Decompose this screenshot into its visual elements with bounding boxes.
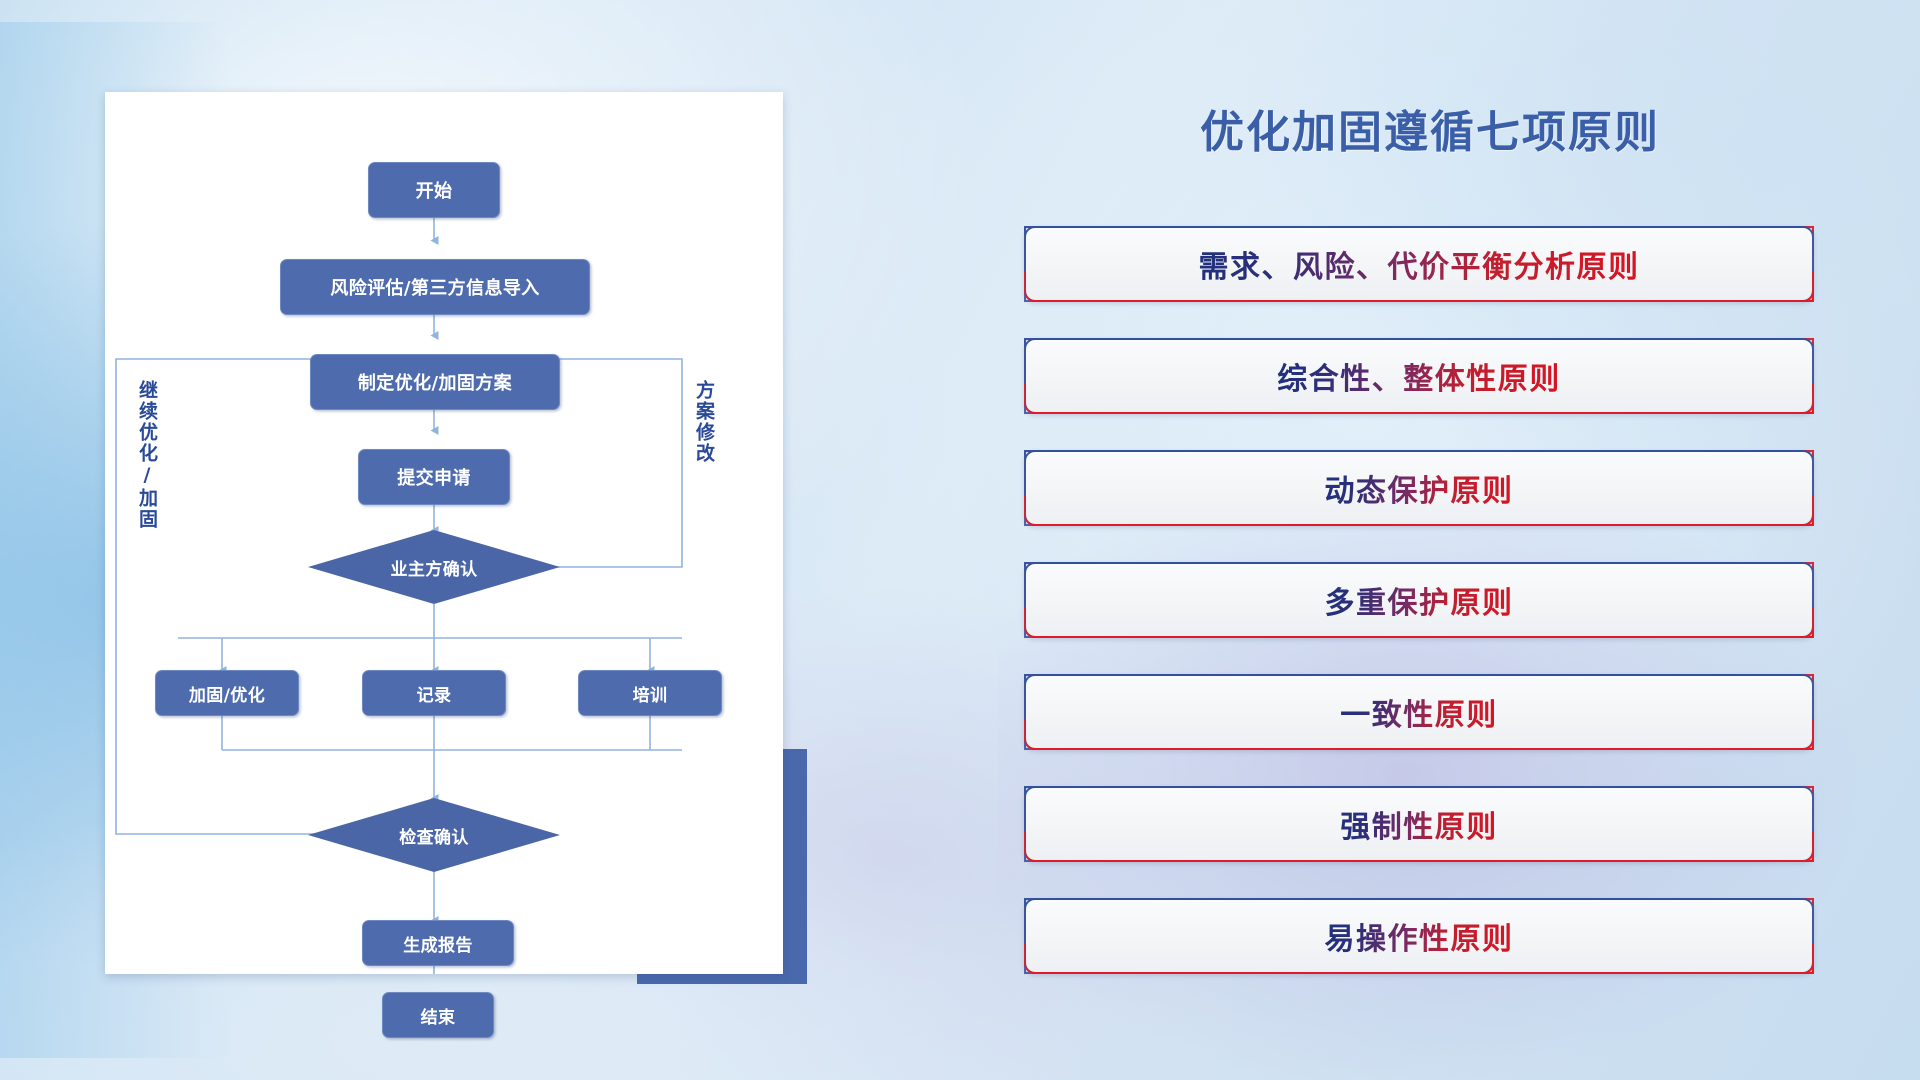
principle-item-4-label: 多重保护原则 <box>1325 578 1514 622</box>
principles-panel: 优化加固遵循七项原则 需求、风险、代价平衡分析原则 综合性、整体性原则 动态保护… <box>1020 96 1840 1006</box>
principle-item-5-label: 一致性原则 <box>1340 690 1498 734</box>
flowchart-card: 开始 风险评估/第三方信息导入 制定优化/加固方案 提交申请 业主方确认 加固/… <box>105 92 783 974</box>
principle-item-1[interactable]: 需求、风险、代价平衡分析原则 <box>1024 226 1814 302</box>
flow-node-end[interactable]: 结束 <box>382 992 494 1038</box>
flow-node-training[interactable]: 培训 <box>578 670 722 716</box>
flow-node-check-confirm-label: 检查确认 <box>399 823 469 848</box>
flow-node-report-label: 生成报告 <box>403 931 473 956</box>
principle-item-6-label: 强制性原则 <box>1340 802 1498 846</box>
flow-node-record[interactable]: 记录 <box>362 670 506 716</box>
flow-node-risk-assessment-label: 风险评估/第三方信息导入 <box>330 274 539 300</box>
flow-node-risk-assessment[interactable]: 风险评估/第三方信息导入 <box>280 259 590 315</box>
flowchart: 开始 风险评估/第三方信息导入 制定优化/加固方案 提交申请 业主方确认 加固/… <box>105 92 783 974</box>
flow-node-reinforce-label: 加固/优化 <box>189 681 265 706</box>
principle-item-1-label: 需求、风险、代价平衡分析原则 <box>1199 242 1640 286</box>
flow-edge-label-plan-revision: 方案修改 <box>693 380 713 464</box>
flow-node-submit-label: 提交申请 <box>397 464 471 490</box>
principle-item-7-label: 易操作性原则 <box>1325 914 1514 958</box>
principle-item-5[interactable]: 一致性原则 <box>1024 674 1814 750</box>
flow-edge-label-continue-optimize: 继续优化/加固 <box>136 380 156 530</box>
flow-node-check-confirm[interactable]: 检查确认 <box>308 798 560 872</box>
principle-item-6[interactable]: 强制性原则 <box>1024 786 1814 862</box>
flow-node-start-label: 开始 <box>416 177 453 203</box>
flow-node-submit[interactable]: 提交申请 <box>358 449 510 505</box>
flow-node-plan[interactable]: 制定优化/加固方案 <box>310 354 560 410</box>
flow-node-record-label: 记录 <box>417 681 452 706</box>
principle-item-4[interactable]: 多重保护原则 <box>1024 562 1814 638</box>
flow-node-report[interactable]: 生成报告 <box>362 920 514 966</box>
flow-node-owner-confirm-label: 业主方确认 <box>391 555 478 580</box>
principle-item-7[interactable]: 易操作性原则 <box>1024 898 1814 974</box>
flow-node-owner-confirm[interactable]: 业主方确认 <box>308 530 560 604</box>
principle-item-2[interactable]: 综合性、整体性原则 <box>1024 338 1814 414</box>
flow-node-end-label: 结束 <box>421 1003 456 1028</box>
panel-title: 优化加固遵循七项原则 <box>1020 96 1840 160</box>
principle-item-3-label: 动态保护原则 <box>1325 466 1514 510</box>
flow-node-reinforce[interactable]: 加固/优化 <box>155 670 299 716</box>
flow-node-plan-label: 制定优化/加固方案 <box>358 369 512 395</box>
principle-item-3[interactable]: 动态保护原则 <box>1024 450 1814 526</box>
flow-node-training-label: 培训 <box>633 681 668 706</box>
flow-node-start[interactable]: 开始 <box>368 162 500 218</box>
principle-item-2-label: 综合性、整体性原则 <box>1277 354 1561 398</box>
